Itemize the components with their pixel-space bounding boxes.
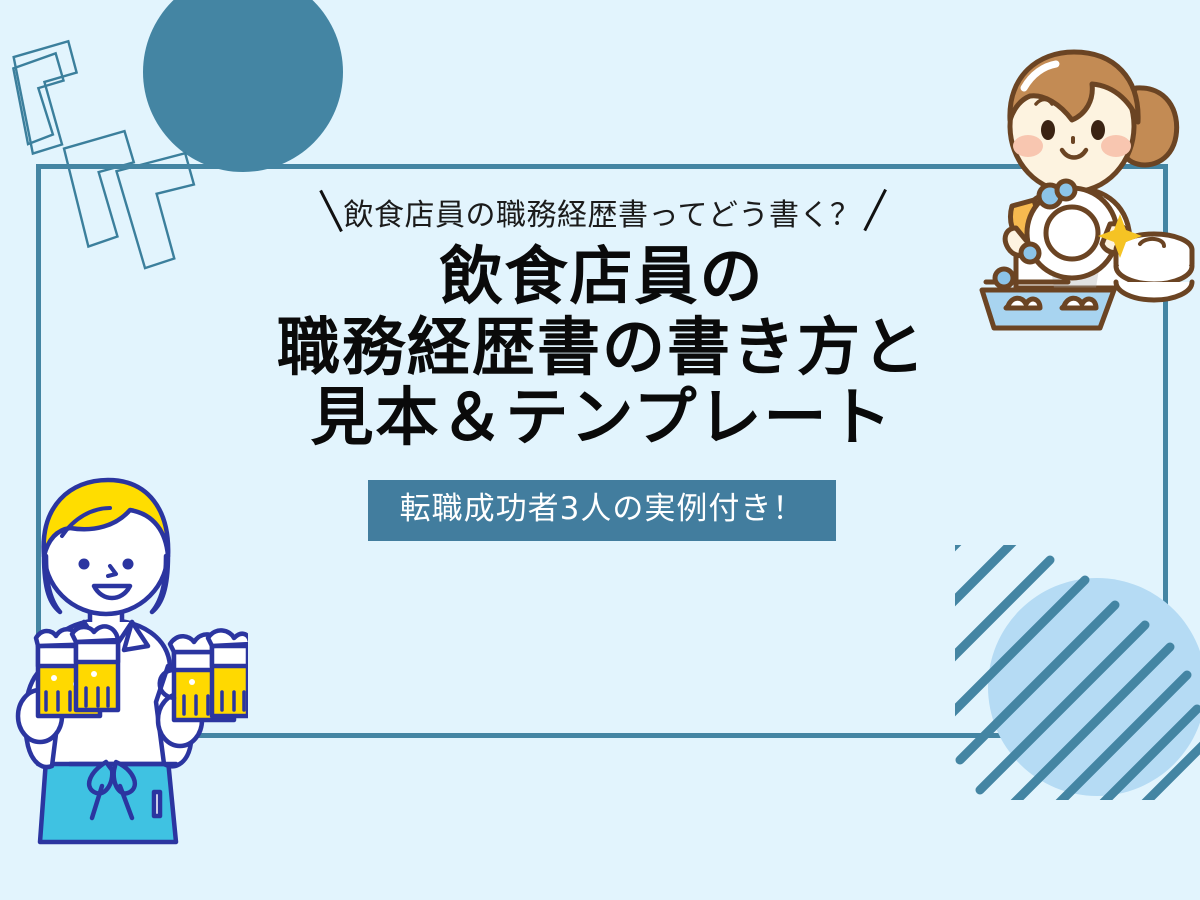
title-line-3: 見本＆テンプレート [277,383,927,454]
woman-washing-dishes-illustration [968,38,1200,338]
subtitle-row: 飲食店員の職務経歴書ってどう書く？ [302,190,903,234]
thumbnail-canvas: 飲食店員の職務経歴書ってどう書く？ 飲食店員の 職務経歴書の書き方と 見本＆テン… [0,0,1200,900]
slash-left-icon [302,190,338,234]
waitress-with-beer-illustration [0,470,248,900]
page-title: 飲食店員の 職務経歴書の書き方と 見本＆テンプレート [277,242,927,454]
title-line-1: 飲食店員の [277,242,927,313]
subtitle-text: 飲食店員の職務経歴書ってどう書く？ [344,190,861,234]
highlight-badge: 転職成功者3人の実例付き！ [368,480,837,541]
title-line-2: 職務経歴書の書き方と [277,313,927,384]
slash-right-icon [867,190,903,234]
